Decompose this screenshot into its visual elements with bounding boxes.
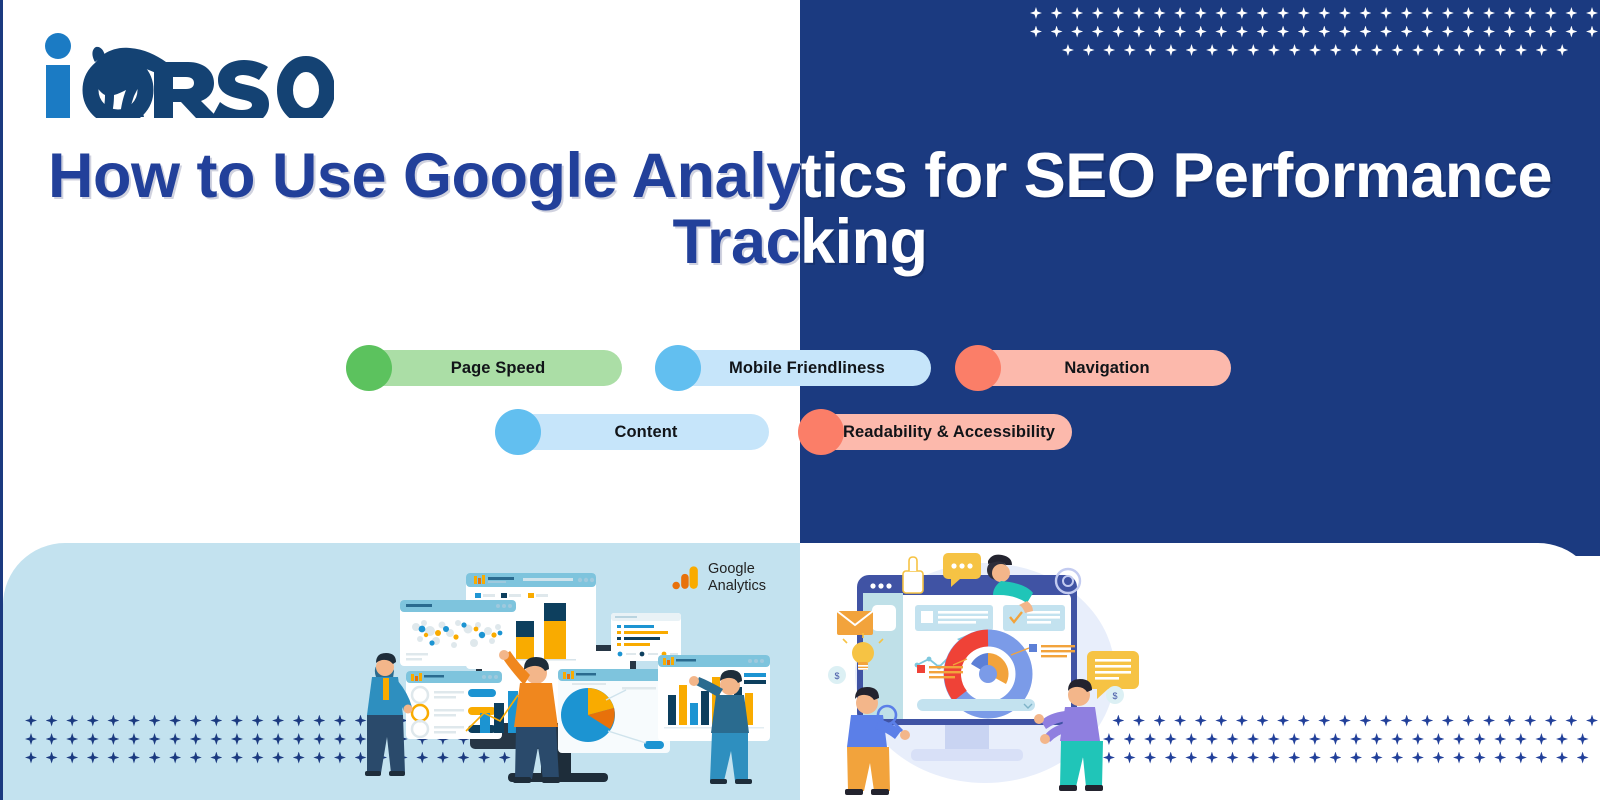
- decor-dot: [1289, 44, 1301, 56]
- decor-dot: [334, 715, 346, 727]
- decor-dot: [1401, 715, 1413, 727]
- decor-dot: [1515, 733, 1527, 745]
- pill-row-secondary: ContentReadability & Accessibility: [0, 414, 1600, 460]
- decor-dot: [1195, 7, 1207, 19]
- decor-dot: [1215, 26, 1227, 38]
- decor-dot: [252, 752, 264, 764]
- decor-dot: [1524, 26, 1536, 38]
- decor-dot: [1556, 733, 1568, 745]
- decor-dot: [1545, 715, 1557, 727]
- decor-dot: [1453, 752, 1465, 764]
- logo-letter-o2: [285, 64, 327, 116]
- decor-dot: [1309, 752, 1321, 764]
- decor-dot: [1494, 733, 1506, 745]
- decor-dot: [107, 733, 119, 745]
- decor-dot: [1195, 715, 1207, 727]
- dashboard-card-pie: [558, 669, 670, 753]
- dot-row: [1082, 733, 1598, 745]
- decor-dot: [1298, 26, 1310, 38]
- decor-dot: [1062, 44, 1074, 56]
- decor-dot: [1577, 733, 1589, 745]
- decor-dot: [1309, 44, 1321, 56]
- decor-dot: [1401, 26, 1413, 38]
- decor-dot: [1442, 7, 1454, 19]
- decor-dot: [1339, 7, 1351, 19]
- decor-dot: [1421, 715, 1433, 727]
- decor-dot: [1371, 752, 1383, 764]
- decor-dot: [1359, 715, 1371, 727]
- decor-dot: [1247, 752, 1259, 764]
- pill-knob-icon: [955, 345, 1001, 391]
- decor-dot: [1421, 26, 1433, 38]
- decor-dot: [1586, 715, 1598, 727]
- decor-dot: [1565, 7, 1577, 19]
- decor-dot: [1124, 44, 1136, 56]
- decor-dot: [293, 752, 305, 764]
- decor-dot: [210, 752, 222, 764]
- decor-dot: [1277, 7, 1289, 19]
- google-analytics-logo: Google Analytics: [676, 557, 776, 601]
- decor-dot: [66, 752, 78, 764]
- decor-dot: [210, 733, 222, 745]
- decor-dot: [1524, 7, 1536, 19]
- decor-dot: [231, 733, 243, 745]
- decor-dot: [1144, 44, 1156, 56]
- decor-dot: [252, 715, 264, 727]
- decor-dot: [313, 715, 325, 727]
- decor-dot: [1474, 733, 1486, 745]
- decor-dot: [1186, 44, 1198, 56]
- decor-dot: [1165, 752, 1177, 764]
- decor-dot: [1133, 7, 1145, 19]
- decor-dot: [128, 715, 140, 727]
- decor-dot: [252, 733, 264, 745]
- decor-dot: [1565, 26, 1577, 38]
- decor-dot: [1515, 752, 1527, 764]
- decor-dot: [1215, 715, 1227, 727]
- decor-dot: [1174, 7, 1186, 19]
- decor-dot: [1288, 733, 1300, 745]
- pill-label: Mobile Friendliness: [703, 359, 885, 378]
- dot-row: [1030, 7, 1598, 19]
- pill-page-speed[interactable]: Page Speed: [348, 350, 622, 386]
- decor-dot: [1556, 752, 1568, 764]
- decor-dot: [1535, 752, 1547, 764]
- decor-dot: [169, 752, 181, 764]
- decor-dot: [190, 715, 202, 727]
- decor-dot: [169, 715, 181, 727]
- decor-dot: [1154, 7, 1166, 19]
- ga-logo-line1: Google: [708, 561, 766, 578]
- decor-dot: [1442, 715, 1454, 727]
- pill-navigation[interactable]: Navigation: [957, 350, 1231, 386]
- decor-dot: [1462, 715, 1474, 727]
- decor-dot: [87, 715, 99, 727]
- decor-dot: [293, 715, 305, 727]
- decor-dot: [1298, 715, 1310, 727]
- decor-dot: [1545, 7, 1557, 19]
- decor-dot: [1442, 26, 1454, 38]
- logo-i-stem: [46, 65, 70, 118]
- decor-dot: [1380, 715, 1392, 727]
- decor-dot: [272, 752, 284, 764]
- decor-dot: [1318, 26, 1330, 38]
- decor-dot: [1206, 44, 1218, 56]
- decor-dot: [1236, 26, 1248, 38]
- decor-dot: [1174, 26, 1186, 38]
- logo-i-dot: [45, 33, 71, 59]
- decor-dot: [231, 715, 243, 727]
- decor-dot: [1051, 26, 1063, 38]
- decor-dot: [1565, 715, 1577, 727]
- pill-knob-icon: [346, 345, 392, 391]
- decor-dot: [1350, 44, 1362, 56]
- decor-dot: [1083, 44, 1095, 56]
- decor-dot: [1154, 715, 1166, 727]
- decor-dot: [1298, 7, 1310, 19]
- decor-dot: [1268, 44, 1280, 56]
- decor-dot: [1030, 26, 1042, 38]
- pill-readability-accessibility[interactable]: Readability & Accessibility: [800, 414, 1072, 450]
- dashboard-card-worldmap: [400, 600, 516, 666]
- svg-text:$: $: [1112, 691, 1117, 701]
- decor-dot: [149, 715, 161, 727]
- decor-dot: [1494, 44, 1506, 56]
- dot-row: [1112, 715, 1598, 727]
- decor-dot: [169, 733, 181, 745]
- decor-dots-bottom-right: [1082, 715, 1598, 771]
- decor-dot: [1483, 715, 1495, 727]
- decor-dot: [1453, 733, 1465, 745]
- decor-dot: [1339, 715, 1351, 727]
- decor-dot: [1535, 733, 1547, 745]
- icon-thumbs-up: [903, 557, 923, 593]
- decor-dot: [1380, 7, 1392, 19]
- decor-dot: [1185, 752, 1197, 764]
- decor-dot: [313, 752, 325, 764]
- decor-dot: [1318, 715, 1330, 727]
- decor-dot: [1112, 7, 1124, 19]
- decor-dot: [334, 733, 346, 745]
- decor-dot: [1112, 26, 1124, 38]
- decor-dot: [128, 733, 140, 745]
- decor-dot: [1236, 7, 1248, 19]
- decor-dot: [210, 715, 222, 727]
- icon-dollar-right: $: [1106, 686, 1124, 704]
- decor-dot: [272, 715, 284, 727]
- logo-letter-r: [154, 62, 218, 118]
- decor-dot: [1462, 26, 1474, 38]
- pill-label: Readability & Accessibility: [817, 423, 1055, 442]
- decor-dot: [1339, 26, 1351, 38]
- decor-dot: [1329, 752, 1341, 764]
- right-illustration-panel: $ $: [800, 543, 1600, 800]
- seo-analytics-monitor-illustration: $ $: [825, 543, 1150, 798]
- decor-dot: [1215, 7, 1227, 19]
- decor-dot: [107, 752, 119, 764]
- icon-envelope: [837, 611, 873, 635]
- svg-text:$: $: [834, 671, 839, 681]
- decor-dot: [1030, 7, 1042, 19]
- decor-dot: [25, 715, 37, 727]
- decor-dot: [1462, 7, 1474, 19]
- left-illustration-panel: Google Analytics: [3, 543, 800, 800]
- decor-dot: [107, 715, 119, 727]
- pill-mobile-friendliness[interactable]: Mobile Friendliness: [657, 350, 931, 386]
- decor-dot: [1432, 733, 1444, 745]
- decor-dot: [1536, 44, 1548, 56]
- decor-dot: [1412, 752, 1424, 764]
- dot-row: [1062, 44, 1598, 56]
- decor-dot: [313, 733, 325, 745]
- decor-dot: [149, 733, 161, 745]
- decor-dot: [1092, 7, 1104, 19]
- decor-dot: [25, 733, 37, 745]
- decor-dot: [1329, 733, 1341, 745]
- pill-label: Page Speed: [425, 359, 546, 378]
- decor-dot: [66, 733, 78, 745]
- decor-dot: [1350, 733, 1362, 745]
- decor-dot: [1524, 715, 1536, 727]
- pill-label: Navigation: [1038, 359, 1149, 378]
- decor-dot: [128, 752, 140, 764]
- decor-dot: [1453, 44, 1465, 56]
- decor-dot: [1545, 26, 1557, 38]
- decor-dot: [1071, 7, 1083, 19]
- dashboard-card-list: [611, 613, 681, 661]
- decor-dot: [1391, 752, 1403, 764]
- decor-dot: [1268, 733, 1280, 745]
- decor-dot: [1051, 7, 1063, 19]
- icon-dollar-left: $: [828, 666, 846, 684]
- decor-dot: [1257, 26, 1269, 38]
- decor-dot: [1227, 733, 1239, 745]
- pill-knob-icon: [655, 345, 701, 391]
- decor-dot: [1185, 733, 1197, 745]
- decor-dots-top-right: [1030, 7, 1598, 63]
- decor-dot: [1268, 752, 1280, 764]
- decor-dot: [1371, 44, 1383, 56]
- decor-dot: [1412, 733, 1424, 745]
- decor-dot: [1421, 7, 1433, 19]
- decor-dot: [1092, 26, 1104, 38]
- decor-dot: [1247, 733, 1259, 745]
- decor-dot: [1071, 26, 1083, 38]
- decor-dot: [1586, 26, 1598, 38]
- banner-canvas: How to Use Google Analytics for SEO Perf…: [0, 0, 1600, 800]
- decor-dot: [1391, 733, 1403, 745]
- decor-dot: [1350, 752, 1362, 764]
- decor-dot: [272, 733, 284, 745]
- decor-dot: [1371, 733, 1383, 745]
- decor-dot: [1227, 44, 1239, 56]
- right-navy-background: [800, 0, 1600, 556]
- decor-dot: [87, 733, 99, 745]
- decor-dot: [1206, 752, 1218, 764]
- dot-row: [1030, 26, 1598, 38]
- decor-dot: [231, 752, 243, 764]
- decor-dot: [1359, 26, 1371, 38]
- decor-dot: [149, 752, 161, 764]
- brand-logo[interactable]: [34, 22, 334, 118]
- decor-dot: [66, 715, 78, 727]
- decor-dot: [1433, 44, 1445, 56]
- decor-dot: [1504, 7, 1516, 19]
- decor-dot: [1359, 7, 1371, 19]
- logo-letter-s: [213, 60, 269, 118]
- decor-dot: [1154, 26, 1166, 38]
- decor-dot: [190, 752, 202, 764]
- decor-dot: [25, 752, 37, 764]
- google-analytics-dashboard-illustration: Google Analytics: [358, 545, 788, 800]
- ga-logo-line2: Analytics: [708, 578, 766, 595]
- decor-dot: [1277, 715, 1289, 727]
- decor-dot: [1277, 26, 1289, 38]
- decor-dot: [1257, 7, 1269, 19]
- decor-dot: [1483, 26, 1495, 38]
- decor-dot: [334, 752, 346, 764]
- decor-dot: [1515, 44, 1527, 56]
- decor-dot: [1174, 715, 1186, 727]
- decor-dot: [1483, 7, 1495, 19]
- decor-dot: [1586, 7, 1598, 19]
- decor-dot: [46, 733, 58, 745]
- decor-dot: [1288, 752, 1300, 764]
- pill-label: Content: [588, 423, 677, 442]
- decor-dot: [1133, 26, 1145, 38]
- decor-dot: [1412, 44, 1424, 56]
- decor-dot: [46, 752, 58, 764]
- decor-dot: [1504, 26, 1516, 38]
- decor-dot: [190, 733, 202, 745]
- decor-dot: [1577, 752, 1589, 764]
- decor-dot: [1236, 715, 1248, 727]
- decor-dot: [1401, 7, 1413, 19]
- decor-dot: [1165, 733, 1177, 745]
- decor-dot: [1494, 752, 1506, 764]
- decor-dot: [293, 733, 305, 745]
- decor-dot: [1474, 752, 1486, 764]
- decor-dot: [1432, 752, 1444, 764]
- decor-dot: [1206, 733, 1218, 745]
- decor-dot: [1318, 7, 1330, 19]
- decor-dot: [1504, 715, 1516, 727]
- decor-dot: [1165, 44, 1177, 56]
- decor-dot: [1227, 752, 1239, 764]
- decor-dot: [1556, 44, 1568, 56]
- decor-dot: [1195, 26, 1207, 38]
- pill-content[interactable]: Content: [497, 414, 769, 450]
- decor-dot: [1309, 733, 1321, 745]
- decor-dot: [1474, 44, 1486, 56]
- pill-knob-icon: [495, 409, 541, 455]
- decor-dot: [1247, 44, 1259, 56]
- decor-dot: [1257, 715, 1269, 727]
- decor-dot: [46, 715, 58, 727]
- decor-dot: [1380, 26, 1392, 38]
- decor-dot: [1391, 44, 1403, 56]
- decor-dot: [1330, 44, 1342, 56]
- person-left: [365, 653, 413, 776]
- dot-row: [1082, 752, 1598, 764]
- decor-dot: [87, 752, 99, 764]
- decor-dot: [1103, 44, 1115, 56]
- pill-row-primary: Page SpeedMobile FriendlinessNavigation: [0, 350, 1600, 396]
